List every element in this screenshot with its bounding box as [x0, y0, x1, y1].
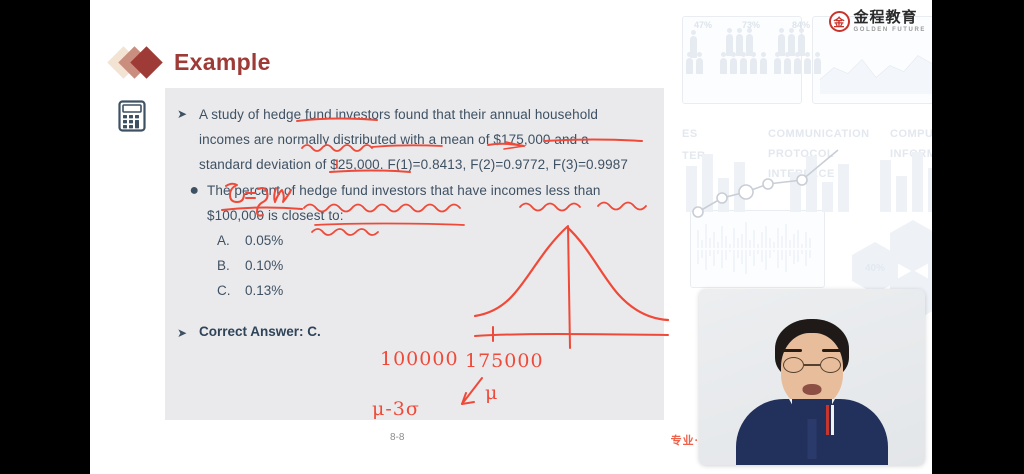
deco-word-interface: INTERFACE [768, 168, 835, 180]
deco-people-group-3 [726, 34, 753, 56]
deco-bars-left [686, 150, 745, 212]
deco-people-group-2 [686, 58, 703, 74]
logo-english-name: GOLDEN FUTURE [854, 27, 926, 33]
ink-value-175000: 175000 [465, 350, 544, 372]
deco-word-communication: COMMUNICATION [768, 128, 870, 140]
option-a[interactable]: A. 0.05% [177, 228, 648, 253]
deco-people-group-6 [774, 58, 821, 74]
deco-hex-icon [890, 220, 932, 272]
deco-people-group-5 [778, 34, 805, 56]
ink-mu-label: μ [485, 382, 497, 404]
correct-answer-row: ➤ Correct Answer: C. [177, 321, 648, 344]
video-person-brow-right [822, 349, 842, 352]
deco-percent-1: 73% [742, 20, 760, 30]
deco-people-group-1 [690, 36, 697, 58]
letterbox-left [0, 0, 90, 474]
dot-bullet-icon: ● [177, 178, 207, 203]
logo-seal-icon: 金 [829, 11, 850, 32]
option-a-letter: A. [217, 228, 245, 253]
video-person-placket [808, 419, 817, 459]
ink-mu-minus-3sigma: μ-3σ [372, 398, 420, 420]
ink-value-100000: 100000 [380, 348, 459, 370]
deco-people-group-4 [720, 58, 767, 74]
option-a-value: 0.05% [245, 228, 283, 253]
question-line-1: The percent of hedge fund investors that… [207, 178, 601, 203]
instructor-video-overlay[interactable] [699, 289, 925, 465]
correct-answer-text: Correct Answer: C. [199, 321, 321, 343]
option-c-value: 0.13% [245, 278, 283, 303]
video-collar-stripe-red [826, 405, 829, 435]
deco-word-protocol: PROTOCOL [768, 148, 834, 160]
bullet-line-1: A study of hedge fund investors found th… [199, 102, 628, 127]
letterbox-right [932, 0, 1024, 474]
question-text: The percent of hedge fund investors that… [207, 178, 601, 228]
diamond-decoration-icon [112, 47, 164, 77]
deco-word-computer: COMPUTER [890, 128, 932, 140]
option-c[interactable]: C. 0.13% [177, 278, 648, 303]
question-line-2: $100,000 is closest to: [207, 203, 601, 228]
video-person-shirt [736, 399, 888, 465]
deco-area-chart [816, 38, 932, 98]
glasses-icon [783, 357, 841, 374]
option-b-value: 0.10% [245, 253, 283, 278]
option-b-letter: B. [217, 253, 245, 278]
deco-percent-0: 47% [694, 20, 712, 30]
answer-arrow-bullet-icon: ➤ [177, 321, 199, 344]
video-person-mouth [803, 384, 822, 395]
page-title: Example [174, 49, 271, 76]
slide-title-row: Example [112, 47, 271, 77]
option-c-letter: C. [217, 278, 245, 303]
deco-bars-mid [790, 150, 849, 212]
deco-bars-right [880, 150, 932, 212]
option-b[interactable]: B. 0.10% [177, 253, 648, 278]
deco-card-waveform [690, 210, 825, 288]
deco-card-people [682, 16, 802, 104]
bullet-main: ➤ A study of hedge fund investors found … [177, 102, 648, 177]
deco-word-es: ES [682, 128, 698, 140]
bullet-main-text: A study of hedge fund investors found th… [199, 102, 628, 177]
deco-percent-2: 84% [792, 20, 810, 30]
arrow-bullet-icon: ➤ [177, 102, 199, 125]
screen: 47% 73% 84% ES TER COMMUNICATION PROTOCO… [0, 0, 1024, 474]
page-number: 8-8 [390, 432, 404, 443]
brand-logo: 金 金程教育 GOLDEN FUTURE [829, 10, 926, 33]
question-block: ● The percent of hedge fund investors th… [177, 178, 648, 228]
bullet-line-2: incomes are normally distributed with a … [199, 127, 628, 152]
slide-canvas: 47% 73% 84% ES TER COMMUNICATION PROTOCO… [90, 0, 932, 474]
deco-word-ter: TER [682, 150, 706, 162]
deco-waveform [696, 218, 820, 278]
video-collar-stripe-white [831, 405, 834, 435]
deco-word-information: INFORMATION [890, 148, 932, 160]
content-panel: ➤ A study of hedge fund investors found … [165, 88, 664, 420]
bullet-line-3: standard deviation of $25,000. F(1)=0.84… [199, 152, 628, 177]
deco-hex-40: 40% [852, 242, 898, 294]
deco-line-chart-nodes [688, 140, 932, 230]
calculator-icon [118, 100, 146, 132]
video-person-brow-left [782, 349, 802, 352]
logo-chinese-name: 金程教育 [854, 10, 926, 25]
